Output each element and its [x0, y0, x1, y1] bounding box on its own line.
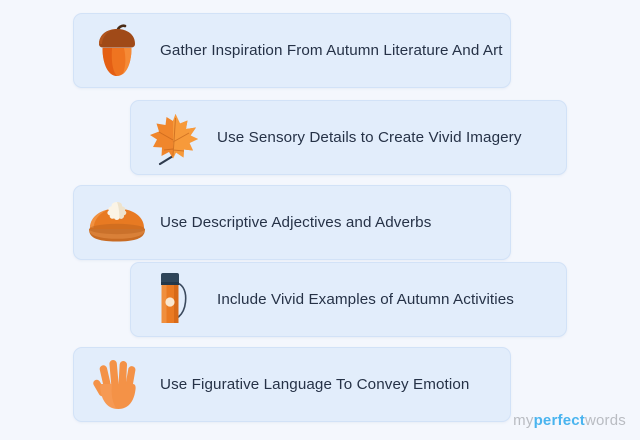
list-item[interactable]: Use Descriptive Adjectives and Adverbs: [73, 185, 511, 260]
open-hand-icon: [74, 347, 160, 422]
brand-logo: myperfectwords: [513, 413, 626, 428]
pumpkin-pie-icon: [74, 185, 160, 260]
list-item-label: Use Figurative Language To Convey Emotio…: [160, 376, 469, 393]
list-item-label: Include Vivid Examples of Autumn Activit…: [217, 291, 514, 308]
logo-text-perfect: perfect: [534, 412, 585, 429]
acorn-icon: [74, 13, 160, 88]
logo-text-my: my: [513, 412, 533, 429]
list-item-label: Gather Inspiration From Autumn Literatur…: [160, 42, 503, 59]
poster-canvas: Gather Inspiration From Autumn Literatur…: [0, 0, 640, 440]
list-item[interactable]: Include Vivid Examples of Autumn Activit…: [130, 262, 567, 337]
list-item-label: Use Descriptive Adjectives and Adverbs: [160, 214, 431, 231]
maple-leaf-icon: [131, 100, 217, 175]
list-item-label: Use Sensory Details to Create Vivid Imag…: [217, 129, 522, 146]
list-item[interactable]: Use Sensory Details to Create Vivid Imag…: [130, 100, 567, 175]
list-item[interactable]: Gather Inspiration From Autumn Literatur…: [73, 13, 511, 88]
thermos-icon: [131, 262, 217, 337]
logo-text-words: words: [585, 412, 626, 429]
list-item[interactable]: Use Figurative Language To Convey Emotio…: [73, 347, 511, 422]
